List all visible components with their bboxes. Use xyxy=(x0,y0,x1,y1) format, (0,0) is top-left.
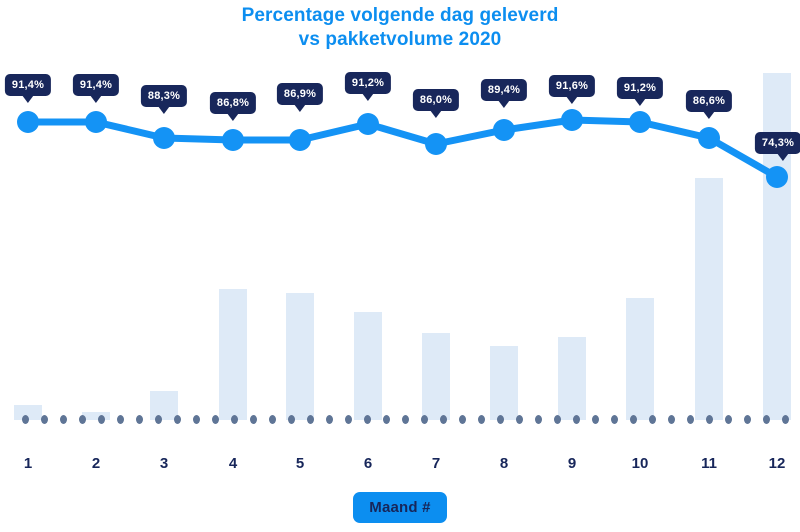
data-label-month-5: 86,9% xyxy=(277,83,323,105)
line-marker-month-11[interactable] xyxy=(698,127,720,149)
line-marker-month-6[interactable] xyxy=(357,113,379,135)
data-label-month-9: 91,6% xyxy=(549,75,595,97)
line-marker-month-10[interactable] xyxy=(629,111,651,133)
chart-container: Percentage volgende dag geleverd vs pakk… xyxy=(0,0,800,532)
x-tick-11: 11 xyxy=(701,455,717,472)
line-series-path xyxy=(0,0,800,440)
data-label-month-7: 86,0% xyxy=(413,89,459,111)
x-tick-2: 2 xyxy=(92,455,100,472)
data-label-month-4: 86,8% xyxy=(210,92,256,114)
line-marker-month-8[interactable] xyxy=(493,119,515,141)
data-label-month-1: 91,4% xyxy=(5,74,51,96)
line-marker-month-9[interactable] xyxy=(561,109,583,131)
line-marker-month-1[interactable] xyxy=(17,111,39,133)
x-tick-7: 7 xyxy=(432,455,440,472)
data-label-month-6: 91,2% xyxy=(345,72,391,94)
x-tick-6: 6 xyxy=(364,455,372,472)
data-label-month-11: 86,6% xyxy=(686,90,732,112)
x-tick-8: 8 xyxy=(500,455,508,472)
data-label-month-2: 91,4% xyxy=(73,74,119,96)
x-tick-12: 12 xyxy=(769,455,786,472)
x-tick-3: 3 xyxy=(160,455,168,472)
x-axis-title-container: Maand # xyxy=(0,492,800,523)
x-axis-title-badge: Maand # xyxy=(353,492,446,523)
data-label-month-3: 88,3% xyxy=(141,85,187,107)
x-tick-4: 4 xyxy=(229,455,237,472)
data-label-month-8: 89,4% xyxy=(481,79,527,101)
x-tick-5: 5 xyxy=(296,455,304,472)
line-marker-month-3[interactable] xyxy=(153,127,175,149)
line-marker-month-7[interactable] xyxy=(425,133,447,155)
line-marker-month-4[interactable] xyxy=(222,129,244,151)
line-marker-month-2[interactable] xyxy=(85,111,107,133)
x-tick-1: 1 xyxy=(24,455,32,472)
line-marker-month-5[interactable] xyxy=(289,129,311,151)
data-label-month-12: 74,3% xyxy=(755,132,800,154)
x-tick-10: 10 xyxy=(632,455,649,472)
plot-area: 91,4% 91,4% 88,3% 86,8% 86,9% 91,2% 86,0… xyxy=(0,0,800,440)
line-marker-month-12[interactable] xyxy=(766,166,788,188)
data-label-month-10: 91,2% xyxy=(617,77,663,99)
x-tick-9: 9 xyxy=(568,455,576,472)
